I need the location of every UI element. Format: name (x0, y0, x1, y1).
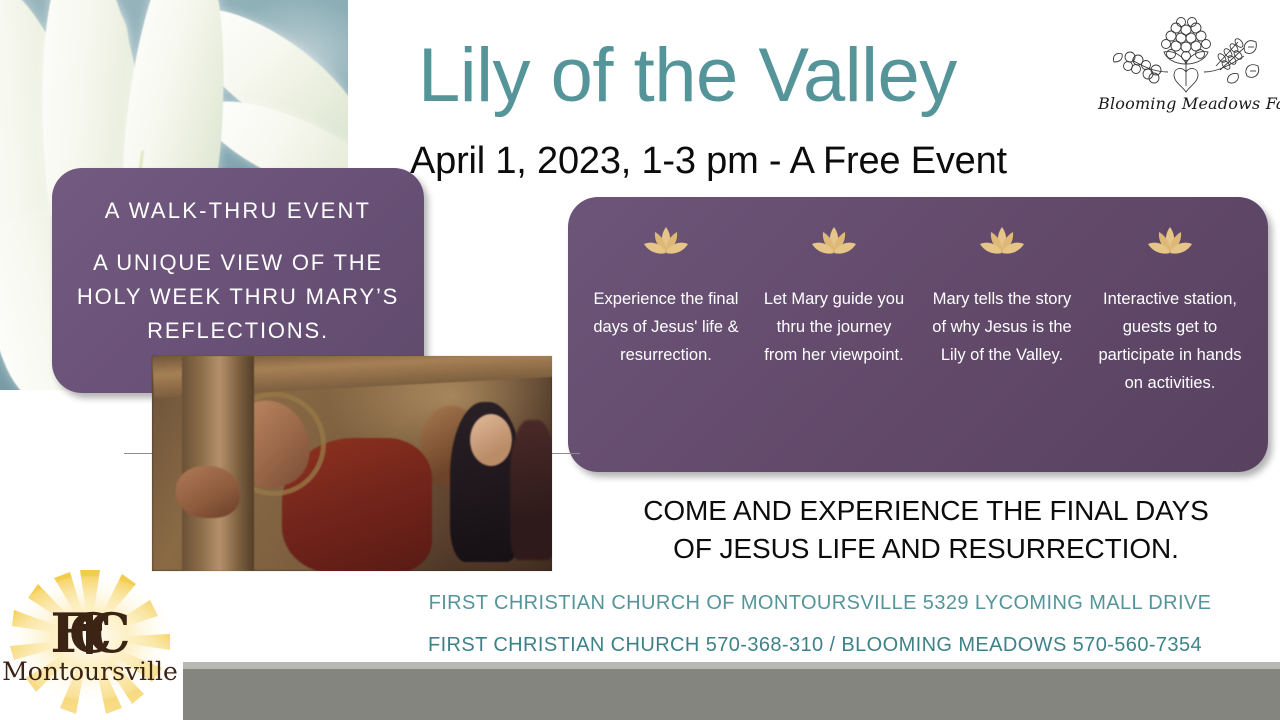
svg-text:Montoursville: Montoursville (2, 657, 178, 686)
callout-line-1: COME AND EXPERIENCE THE FINAL DAYS (586, 492, 1266, 530)
fcc-montoursville-logo: FC C Montoursville (2, 568, 184, 716)
callout-headline: COME AND EXPERIENCE THE FINAL DAYS OF JE… (586, 492, 1266, 568)
sunburst-cross-icon: FC C Montoursville (2, 568, 184, 716)
feature-columns-box: Experience the final days of Jesus' life… (568, 197, 1268, 472)
lotus-flower-icon (642, 225, 690, 259)
footer-gray-bar-highlight (183, 662, 1280, 669)
cross-beam-vertical (182, 356, 254, 571)
footer-gray-bar (183, 662, 1280, 720)
footer-phone-line: FIRST CHRISTIAN CHURCH 570-368-310 / BLO… (360, 632, 1270, 658)
divider-line-right (548, 453, 580, 454)
unique-view-line: A UNIQUE VIEW OF THE HOLY WEEK THRU MARY… (62, 246, 414, 348)
feature-column-2: Let Mary guide you thru the journey from… (750, 225, 918, 369)
floral-line-art-icon (1098, 14, 1276, 96)
feature-column-text: Let Mary guide you thru the journey from… (758, 285, 910, 369)
footer-address-line: FIRST CHRISTIAN CHURCH OF MONTOURSVILLE … (370, 590, 1270, 616)
onlooker-figure (510, 420, 552, 560)
lotus-flower-icon (810, 225, 858, 259)
walk-thru-event-line: A WALK-THRU EVENT (52, 196, 424, 226)
feature-column-3: Mary tells the story of why Jesus is the… (918, 225, 1086, 369)
farm-logo-name: Blooming Meadows Farm (1098, 94, 1276, 113)
page-title: Lily of the Valley (418, 34, 1028, 118)
feature-column-text: Mary tells the story of why Jesus is the… (926, 285, 1078, 369)
lotus-flower-icon (1146, 225, 1194, 259)
feature-column-4: Interactive station, guests get to parti… (1086, 225, 1254, 397)
callout-line-2: OF JESUS LIFE AND RESURRECTION. (586, 530, 1266, 568)
jesus-carrying-cross-photo (152, 356, 552, 571)
feature-column-1: Experience the final days of Jesus' life… (582, 225, 750, 369)
onlooker-face (470, 414, 512, 466)
jesus-hand (176, 466, 240, 518)
flyer-canvas: Lily of the Valley April 1, 2023, 1-3 pm… (0, 0, 1280, 720)
feature-column-text: Interactive station, guests get to parti… (1094, 285, 1246, 397)
blooming-meadows-farm-logo: Blooming Meadows Farm (1098, 14, 1276, 132)
event-date-subtitle: April 1, 2023, 1-3 pm - A Free Event (410, 138, 1170, 184)
feature-column-text: Experience the final days of Jesus' life… (590, 285, 742, 369)
lotus-flower-icon (978, 225, 1026, 259)
